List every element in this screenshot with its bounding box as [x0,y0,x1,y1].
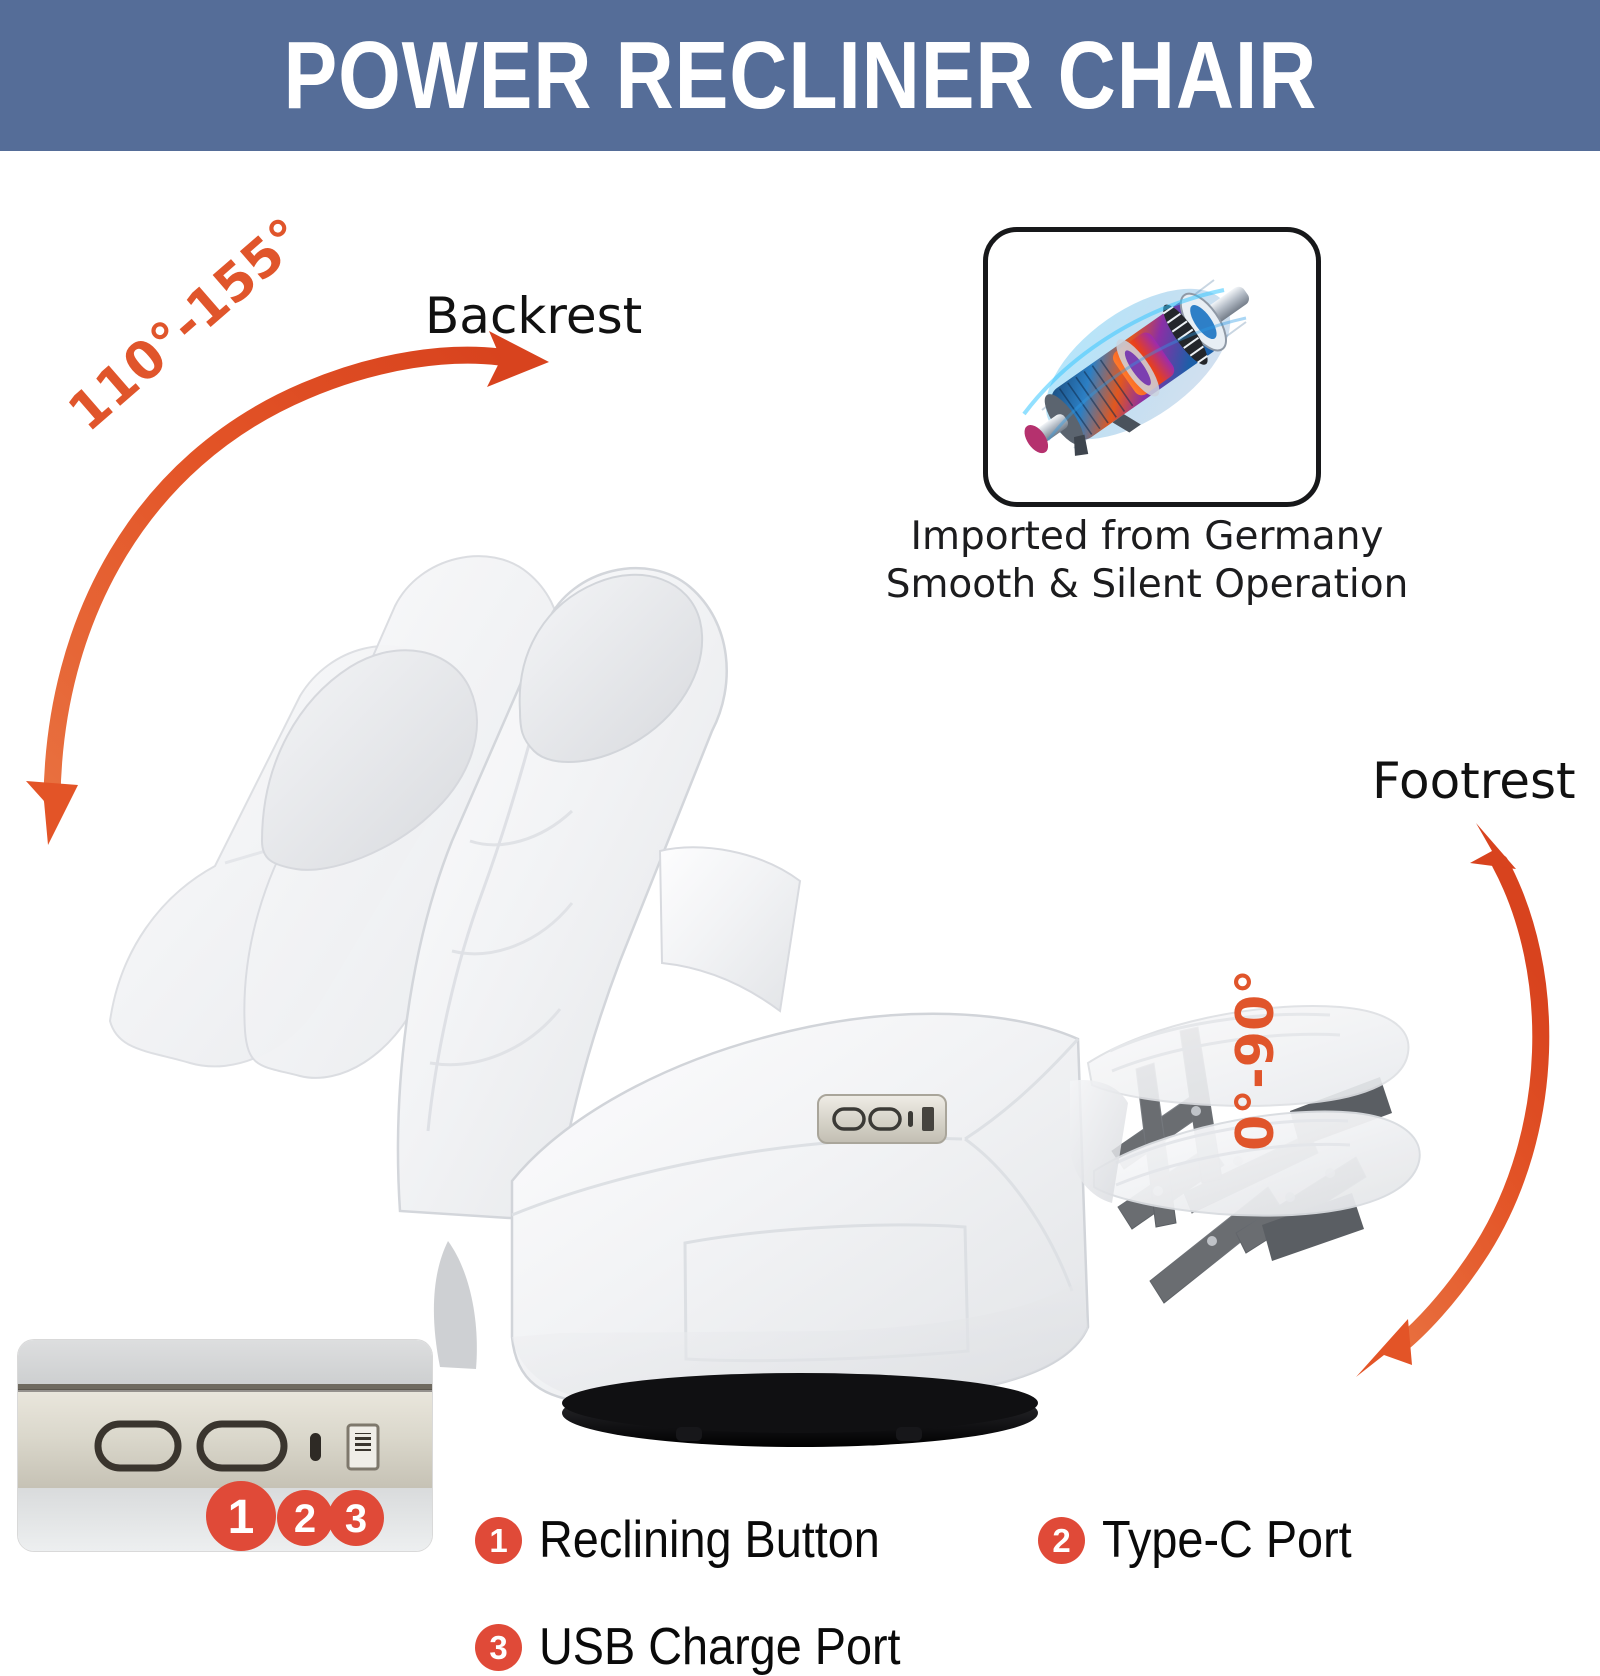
svg-text:2: 2 [294,1497,316,1541]
footrest-angle-range: 0°-90° [1230,969,1282,1151]
control-panel-inset: 1 2 3 [18,1340,432,1551]
footrest-label: Footrest [1372,756,1576,806]
legend-badge-2: 2 [1038,1517,1085,1564]
header-banner: POWER RECLINER CHAIR [0,0,1600,151]
motor-feature-card: Imported from Germany Smooth & Silent Op… [983,227,1311,497]
motor-caption-line-2: Smooth & Silent Operation [883,561,1411,609]
legend-item-usb-charge-port: 3 USB Charge Port [475,1621,941,1673]
legend-item-reclining-button: 1 Reclining Button [475,1514,918,1566]
svg-text:3: 3 [345,1497,367,1541]
armrest-control-plate [818,1095,946,1143]
svg-text:1: 1 [228,1491,255,1544]
motor-image-frame [983,227,1321,507]
page-title: POWER RECLINER CHAIR [283,28,1317,124]
motor-caption: Imported from Germany Smooth & Silent Op… [883,513,1411,608]
legend-label-3: USB Charge Port [539,1621,901,1673]
legend-badge-3: 3 [475,1624,522,1671]
backrest-label: Backrest [425,291,642,341]
motor-caption-line-1: Imported from Germany [883,513,1411,561]
legend-label-1: Reclining Button [539,1514,880,1566]
infographic-stage: Backrest Footrest 110°-155° 0°-90° [0,151,1600,1600]
electric-motor-icon [988,232,1306,492]
legend-label-2: Type-C Port [1102,1514,1352,1566]
legend-badge-1: 1 [475,1517,522,1564]
legend-item-type-c-port: 2 Type-C Port [1038,1514,1379,1566]
control-panel-closeup: 1 2 3 [18,1340,432,1551]
